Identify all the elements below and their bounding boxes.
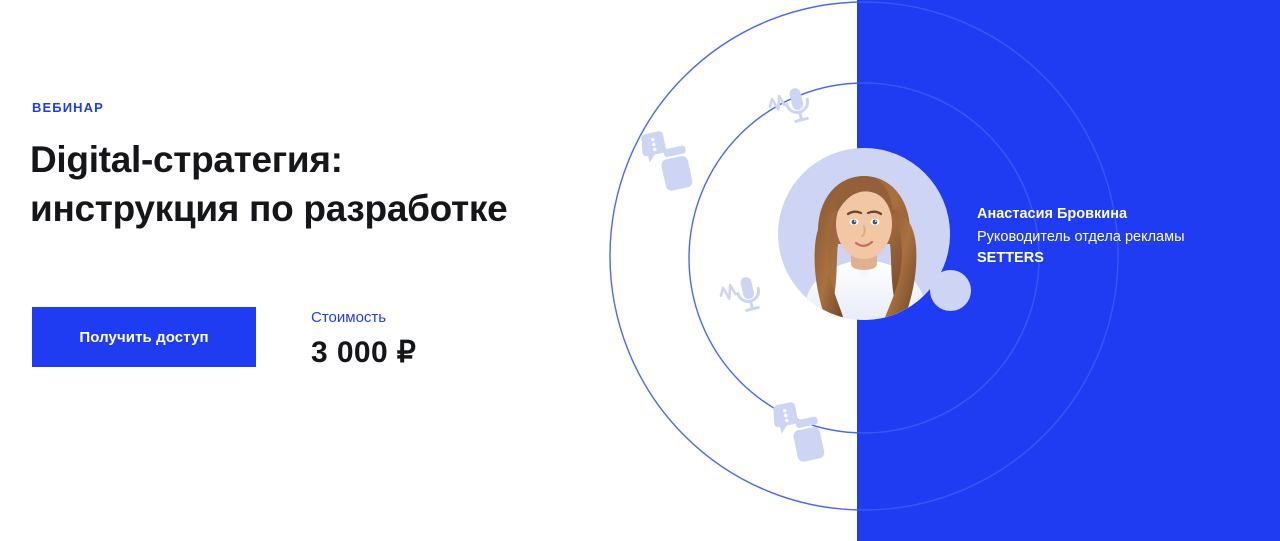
page-title: Digital-стратегия:инструкция по разработ… (30, 136, 590, 234)
speaker-portrait (778, 148, 950, 320)
speaker-role: Руководитель отдела рекламы (977, 228, 1267, 248)
cta-row: Получить доступ Стоимость 3 000 ₽ (32, 307, 416, 368)
microphone-icon (718, 275, 763, 317)
speaker-info: Анастасия Бровкина Руководитель отдела р… (977, 205, 1267, 269)
price-label: Стоимость (311, 310, 416, 325)
get-access-button[interactable]: Получить доступ (32, 307, 256, 367)
speaker-company: SETTERS (977, 249, 1267, 269)
portrait-circle (778, 148, 950, 320)
eyebrow-label: ВЕБИНАР (32, 101, 104, 114)
headline-line-2: инструкция по разработке (30, 188, 507, 229)
microphone-icon (767, 86, 812, 128)
speaker-name: Анастасия Бровкина (977, 205, 1267, 225)
speech-bubble-phone-icon (639, 127, 694, 196)
speech-bubble-phone-icon (771, 398, 826, 467)
webinar-hero-banner: ВЕБИНАР Digital-стратегия:инструкция по … (0, 0, 1280, 541)
hero-text-column: ВЕБИНАР Digital-стратегия:инструкция по … (32, 0, 592, 541)
price-block: Стоимость 3 000 ₽ (311, 307, 416, 368)
price-value: 3 000 ₽ (311, 338, 416, 368)
headline-line-1: Digital-стратегия: (30, 139, 343, 180)
portrait-illustration (778, 148, 950, 320)
